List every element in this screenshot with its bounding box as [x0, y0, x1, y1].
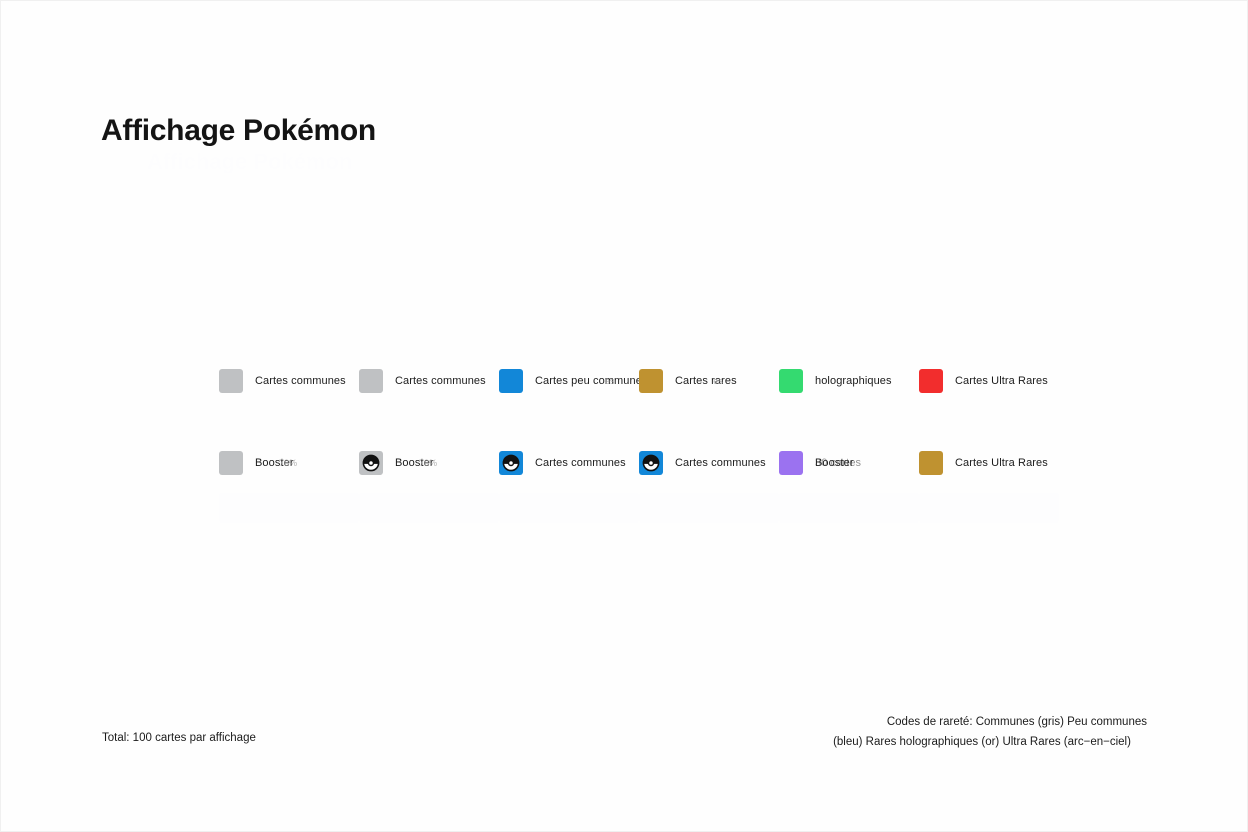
legend-row: Cartes communes Cartes communes Cartes p…: [219, 361, 1049, 401]
legend-item[interactable]: Booster70%: [359, 451, 499, 475]
legend-item-label: Cartes Ultra Rares: [955, 457, 1048, 469]
ghost-block: [219, 493, 359, 523]
label-overlap-fragment: es: [605, 376, 615, 386]
legend-item-label: Cartes communes: [675, 457, 766, 469]
label-overlap-fragment: es: [713, 376, 723, 386]
label-overlap-fragment: 70%: [419, 458, 437, 468]
legend-row: Booster70% Booster70%: [219, 443, 1049, 483]
rarity-codes-line-2: (bleu) Rares holographiques (or) Ultra R…: [817, 732, 1147, 752]
poster-canvas: Affichage Pokémon Affichage Pokémon Cart…: [0, 0, 1248, 832]
ghost-block: [779, 493, 919, 523]
legend-item[interactable]: Cartes communes: [359, 369, 499, 393]
legend-item-label: Cartes Ultra Rares: [955, 375, 1048, 387]
color-swatch: [639, 369, 663, 393]
legend-item[interactable]: holographiques: [779, 369, 919, 393]
label-overlap-fragment: 70%: [279, 458, 297, 468]
pokeball-swatch: [499, 451, 523, 475]
legend-item-label: Booster70%: [395, 457, 434, 469]
legend-item-label: Cartes rareses: [675, 375, 737, 387]
ghost-block: [499, 493, 639, 523]
legend-item-label: Booster70%: [255, 457, 294, 469]
color-swatch: [779, 369, 803, 393]
legend-item[interactable]: Booster70%: [219, 451, 359, 475]
legend-item[interactable]: Cartes communes: [499, 451, 639, 475]
ghost-block: [639, 493, 779, 523]
pokeball-swatch: [639, 451, 663, 475]
rarity-codes-footer: Codes de rareté: Communes (gris) Peu com…: [817, 712, 1147, 752]
legend-item-label: Booster30 cartes: [815, 457, 854, 469]
color-swatch: [499, 369, 523, 393]
legend-item[interactable]: Cartes peu communeses: [499, 369, 639, 393]
color-swatch: [219, 451, 243, 475]
pokeball-icon: [362, 454, 380, 472]
pokeball-icon: [502, 454, 520, 472]
ghost-title-artifact: Affichage Pokémon: [147, 149, 352, 175]
color-swatch: [779, 451, 803, 475]
color-swatch: [919, 369, 943, 393]
total-cards-footer: Total: 100 cartes par affichage: [102, 732, 256, 744]
pokeball-icon: [642, 454, 660, 472]
legend-item-label: Cartes communes: [395, 375, 486, 387]
legend-item-label: holographiques: [815, 375, 892, 387]
ghost-block: [359, 493, 499, 523]
color-swatch: [219, 369, 243, 393]
pokeball-swatch: [359, 451, 383, 475]
legend-item-label: Cartes communes: [535, 457, 626, 469]
color-swatch: [919, 451, 943, 475]
rarity-codes-line-1: Codes de rareté: Communes (gris) Peu com…: [817, 712, 1147, 732]
legend-item-label: Cartes peu communeses: [535, 375, 648, 387]
legend-item-label: Cartes communes: [255, 375, 346, 387]
color-swatch: [359, 369, 383, 393]
ghost-block: [919, 493, 1059, 523]
page-title: Affichage Pokémon: [101, 114, 376, 148]
legend-item[interactable]: Cartes communes: [639, 451, 779, 475]
label-overlap-fragment: 30 cartes: [815, 457, 861, 469]
legend-item[interactable]: Cartes Ultra Rares: [919, 451, 1059, 475]
legend-item[interactable]: Booster30 cartes: [779, 451, 919, 475]
legend-item[interactable]: Cartes communes: [219, 369, 359, 393]
legend-item[interactable]: Cartes Ultra Rares: [919, 369, 1059, 393]
ghost-row-artifact: [219, 493, 1039, 529]
legend-item[interactable]: Cartes rareses: [639, 369, 779, 393]
